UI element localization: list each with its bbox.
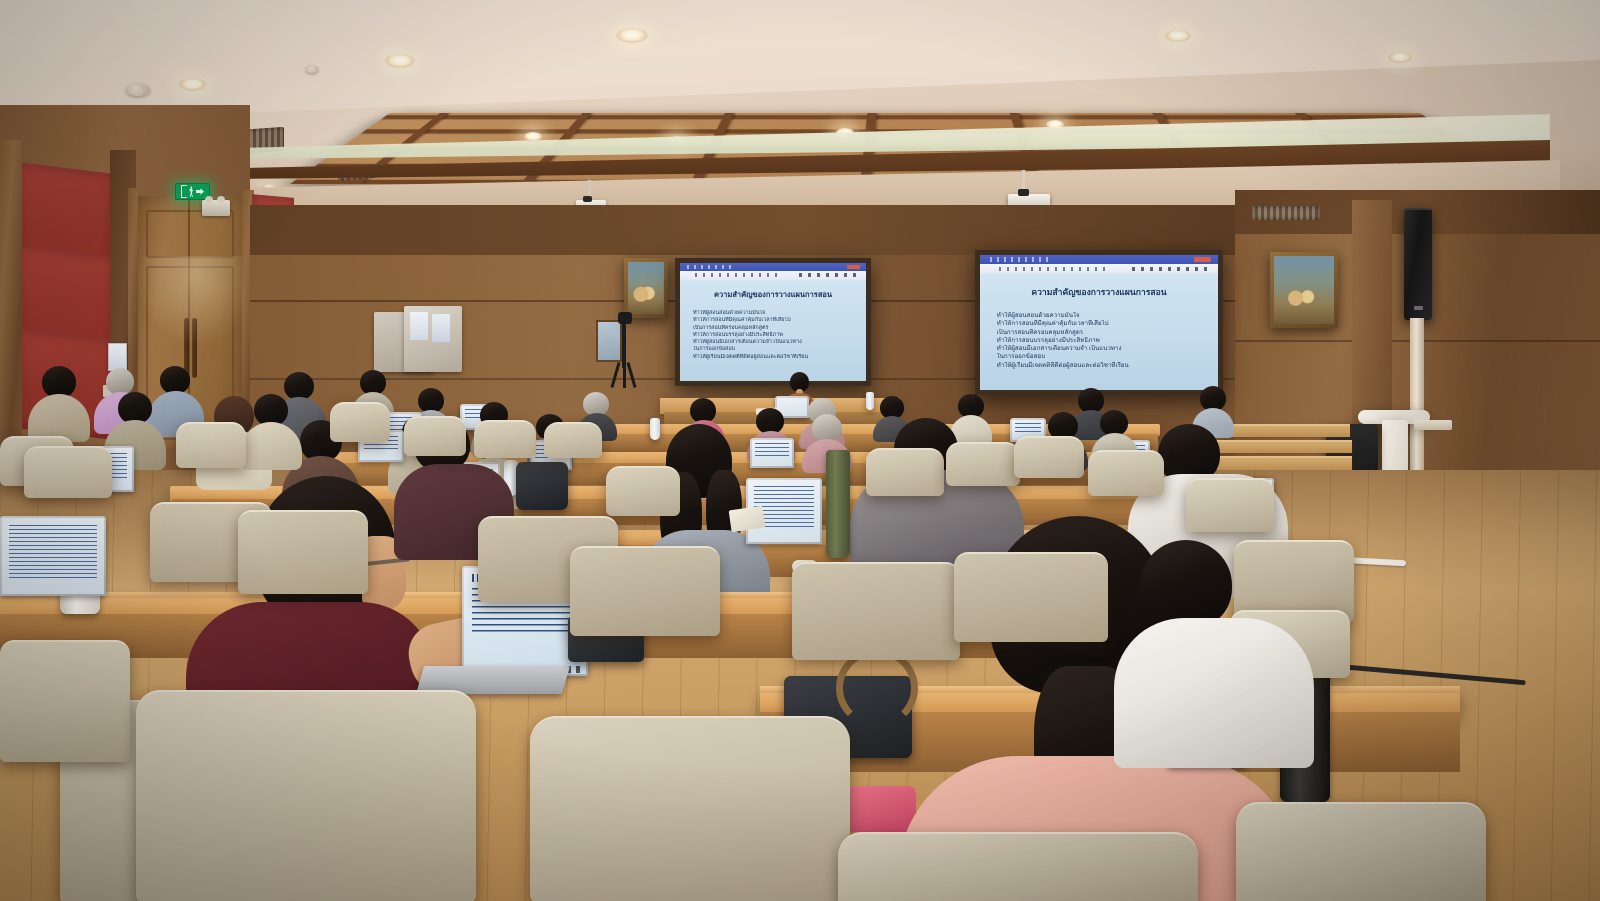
chair[interactable]	[954, 552, 1108, 642]
slide-bullet: ทำให้ผู้สอนสอนด้วยความมั่นใจ	[997, 312, 1202, 320]
ceiling-downlight	[1388, 52, 1412, 63]
chair[interactable]	[570, 546, 720, 636]
slide-bullet: ทำให้ผู้เรียนมีเจตคติที่ดีต่อผู้สอนและต่…	[693, 354, 853, 361]
slide-bullet: ทำให้การสอนที่มีคุณค่าคุ้มกับเวลาที่เสีย…	[997, 320, 1202, 328]
exit-running-man-icon	[189, 186, 194, 197]
lectern-shelf	[1414, 420, 1452, 430]
slide-bullet: ทำให้ผู้เรียนมีเจตคติที่ดีต่อผู้สอนและต่…	[997, 362, 1202, 370]
photo-scene: ความสำคัญของการวางแผนการสอน ทำให้ผู้สอนส…	[0, 0, 1600, 901]
wall-window-panel	[596, 320, 622, 362]
chair[interactable]	[946, 442, 1020, 486]
water-bottle	[866, 392, 874, 410]
line-array-speaker	[1404, 208, 1432, 320]
chair[interactable]	[238, 510, 368, 594]
exit-door-icon	[181, 185, 187, 198]
left-projection-screen: ความสำคัญของการวางแผนการสอน ทำให้ผู้สอนส…	[675, 258, 871, 386]
slide-bullets: ทำให้ผู้สอนสอนด้วยความมั่นใจ ทำให้การสอน…	[997, 312, 1202, 370]
document-body: ความสำคัญของการวางแผนการสอน ทำให้ผู้สอนส…	[980, 274, 1218, 390]
wall-column	[0, 140, 22, 470]
framed-picture	[624, 258, 668, 318]
laptop	[750, 438, 794, 468]
ceiling-downlight	[616, 28, 648, 43]
chair[interactable]	[24, 446, 112, 498]
slide-bullet: ทำให้ผู้สอนมีเอกสารเตือนความจำ เป็นแนวทา…	[997, 345, 1202, 353]
window-title-bar	[680, 263, 866, 271]
chair-foreground[interactable]	[838, 832, 1198, 901]
speaker-logo	[1414, 306, 1423, 310]
slide-bullet: ในการออกข้อสอบ	[693, 346, 853, 353]
ceiling-downlight	[179, 78, 206, 91]
royal-portrait	[1270, 252, 1338, 328]
chair-foreground[interactable]	[136, 690, 476, 901]
chair[interactable]	[330, 402, 390, 442]
right-projection-screen: ความสำคัญของการวางแผนการสอน ทำให้ผู้สอนส…	[975, 250, 1223, 395]
slide-bullet: ในการออกข้อสอบ	[997, 353, 1202, 361]
chair[interactable]	[606, 466, 680, 516]
slide-bullet: ทำให้การสอนบรรลุอย่างมีประสิทธิภาพ	[693, 332, 853, 339]
wall-notice	[410, 312, 428, 340]
ceiling-downlight	[385, 54, 415, 68]
travel-tumbler-green	[826, 450, 850, 558]
handbag	[516, 462, 568, 510]
chair[interactable]	[866, 448, 944, 496]
chair[interactable]	[0, 640, 130, 762]
chair-foreground[interactable]	[530, 716, 850, 901]
notebook	[729, 506, 766, 533]
chair[interactable]	[176, 422, 246, 468]
emergency-light-lamp	[205, 196, 213, 203]
wall-poster	[108, 343, 127, 371]
slide-bullet: ทำให้ผู้สอนสอนด้วยความมั่นใจ	[693, 310, 853, 317]
slide-bullet: เป็นการสอนที่ครอบคลุมหลักสูตร	[693, 325, 853, 332]
chair[interactable]	[404, 416, 466, 456]
slide-bullet: ทำให้ผู้สอนมีเอกสารเตือนความจำ เป็นแนวทา…	[693, 339, 853, 346]
tier-step	[1212, 440, 1352, 453]
slide-title: ความสำคัญของการวางแผนการสอน	[997, 288, 1202, 297]
pink-cloth	[846, 786, 916, 832]
smoke-detector-icon	[126, 84, 150, 96]
tier-step	[1222, 424, 1350, 437]
close-icon	[847, 265, 860, 270]
slide-bullets: ทำให้ผู้สอนสอนด้วยความมั่นใจ ทำให้การสอน…	[693, 310, 853, 361]
exit-arrow-icon	[196, 188, 204, 196]
ceiling-downlight	[1165, 30, 1191, 42]
wall-notice	[432, 314, 450, 342]
chair[interactable]	[792, 562, 960, 660]
slide-bullet: ทำให้การสอนที่มีคุณค่าคุ้มกับเวลาที่เสีย…	[693, 317, 853, 324]
wall-air-vent	[1252, 206, 1320, 220]
front-wall-upper	[250, 205, 1350, 255]
document-body: ความสำคัญของการวางแผนการสอน ทำให้ผู้สอนส…	[680, 280, 866, 381]
close-icon	[1194, 257, 1211, 262]
window-title-bar	[980, 255, 1218, 264]
chair[interactable]	[1088, 450, 1164, 496]
chair[interactable]	[474, 420, 536, 458]
tier-step	[1200, 456, 1352, 470]
chair[interactable]	[1014, 436, 1084, 478]
slide-bullet: เป็นการสอนที่ครอบคลุมหลักสูตร	[997, 329, 1202, 337]
slide-title: ความสำคัญของการวางแผนการสอน	[693, 291, 853, 299]
ceiling-downlight	[524, 132, 542, 141]
smoke-detector-icon	[306, 66, 318, 73]
water-bottle	[650, 418, 660, 440]
bag-strap	[836, 648, 918, 728]
laptop	[0, 516, 106, 596]
chair-foreground[interactable]	[1236, 802, 1486, 901]
chair[interactable]	[544, 422, 602, 458]
chair[interactable]	[1186, 478, 1274, 532]
emergency-light-lamp	[217, 196, 225, 203]
slide-bullet: ทำให้การสอนบรรลุอย่างมีประสิทธิภาพ	[997, 337, 1202, 345]
